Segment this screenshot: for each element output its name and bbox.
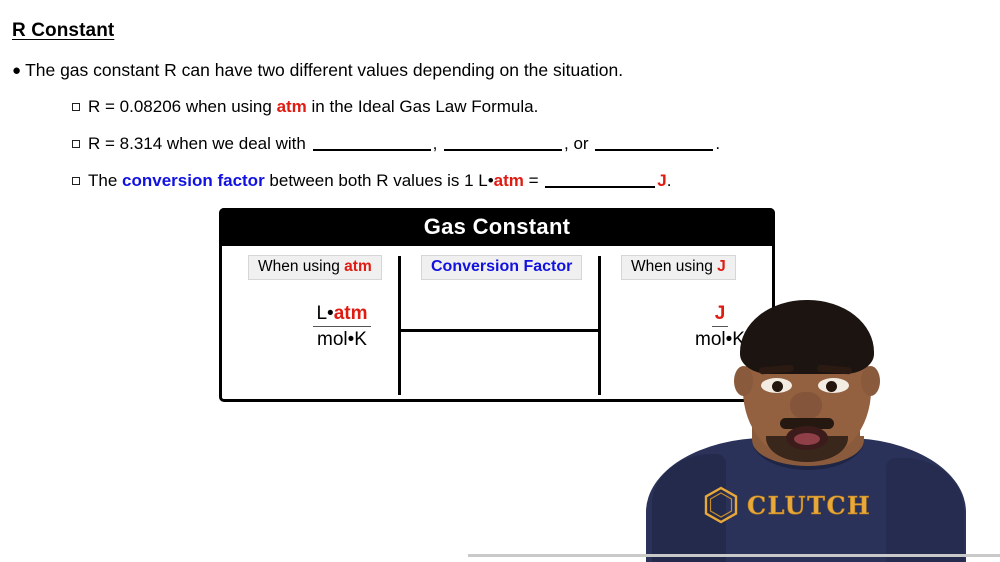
tshirt-shadow-right bbox=[886, 458, 964, 562]
bullet-square-icon bbox=[72, 177, 80, 185]
bullet-item-4-joule: J bbox=[657, 171, 666, 190]
bullet-item-3-part1: R = 8.314 when we deal with bbox=[88, 134, 311, 153]
table-column-divider-1 bbox=[398, 256, 401, 395]
col-0-label-prefix: When using bbox=[258, 258, 344, 275]
conversion-factor-blank-bar bbox=[401, 329, 598, 332]
bullet-item-4-part2: between both R values is 1 L• bbox=[265, 171, 494, 190]
unit-fraction-atm-numerator: L•atm bbox=[313, 303, 370, 327]
nose bbox=[790, 392, 822, 420]
bullet-item-1-text: The gas constant R can have two differen… bbox=[25, 60, 623, 80]
pupil-left bbox=[772, 381, 783, 392]
fill-blank-3 bbox=[595, 149, 713, 151]
unit-fraction-atm-denominator: mol•K bbox=[296, 327, 388, 351]
bullet-item-4-equals: = bbox=[524, 171, 543, 190]
bullet-item-4-part1: The bbox=[88, 171, 122, 190]
bullet-item-3-sep2: , or bbox=[564, 134, 593, 153]
fill-blank-1 bbox=[313, 149, 431, 151]
fill-blank-2 bbox=[444, 149, 562, 151]
lecture-slide: R Constant ●The gas constant R can have … bbox=[0, 0, 1000, 562]
bullet-dot-icon: ● bbox=[12, 62, 21, 79]
clutch-brand-logo: CLUTCH bbox=[704, 486, 871, 524]
bullet-square-icon bbox=[72, 103, 80, 111]
presenter-video: CLUTCH bbox=[618, 268, 1000, 562]
page-title: R Constant bbox=[12, 20, 114, 42]
num-highlight: atm bbox=[334, 303, 368, 324]
col-1-label-highlight: Conversion Factor bbox=[431, 258, 572, 275]
ear-left bbox=[734, 366, 753, 396]
pupil-right bbox=[826, 381, 837, 392]
bullet-item-2-part1: R = 0.08206 when using bbox=[88, 97, 277, 116]
presenter-hair bbox=[740, 300, 874, 374]
table-column-header-conversion-factor: Conversion Factor bbox=[421, 255, 582, 280]
bullet-item-4-end: . bbox=[667, 171, 672, 190]
bullet-item-4-conversion-factor: conversion factor bbox=[122, 171, 265, 190]
bullet-item-2-atm: atm bbox=[277, 97, 307, 116]
bullet-item-3-sep1: , bbox=[433, 134, 442, 153]
video-progress-bar[interactable] bbox=[468, 554, 1000, 557]
hexagon-benzene-icon bbox=[704, 486, 738, 524]
bullet-item-4-atm: atm bbox=[494, 171, 524, 190]
fill-blank-4 bbox=[545, 186, 655, 188]
bullet-item-3-end: . bbox=[715, 134, 720, 153]
table-title: Gas Constant bbox=[219, 208, 775, 246]
unit-fraction-atm: L•atm mol•K bbox=[296, 303, 388, 351]
table-column-header-atm: When using atm bbox=[248, 255, 382, 280]
bullet-square-icon bbox=[72, 140, 80, 148]
mouth-inner bbox=[794, 433, 820, 445]
num-prefix: L• bbox=[316, 303, 333, 324]
bullet-item-2-part2: in the Ideal Gas Law Formula. bbox=[307, 97, 539, 116]
col-0-label-highlight: atm bbox=[344, 258, 372, 275]
bullet-item-2: R = 0.08206 when using atm in the Ideal … bbox=[72, 97, 538, 117]
bullet-item-3: R = 8.314 when we deal with , , or . bbox=[72, 134, 720, 154]
ear-right bbox=[861, 366, 880, 396]
bullet-item-4: The conversion factor between both R val… bbox=[72, 171, 671, 191]
table-column-divider-2 bbox=[598, 256, 601, 395]
clutch-logo-text: CLUTCH bbox=[747, 491, 871, 520]
bullet-item-1: ●The gas constant R can have two differe… bbox=[12, 60, 623, 81]
